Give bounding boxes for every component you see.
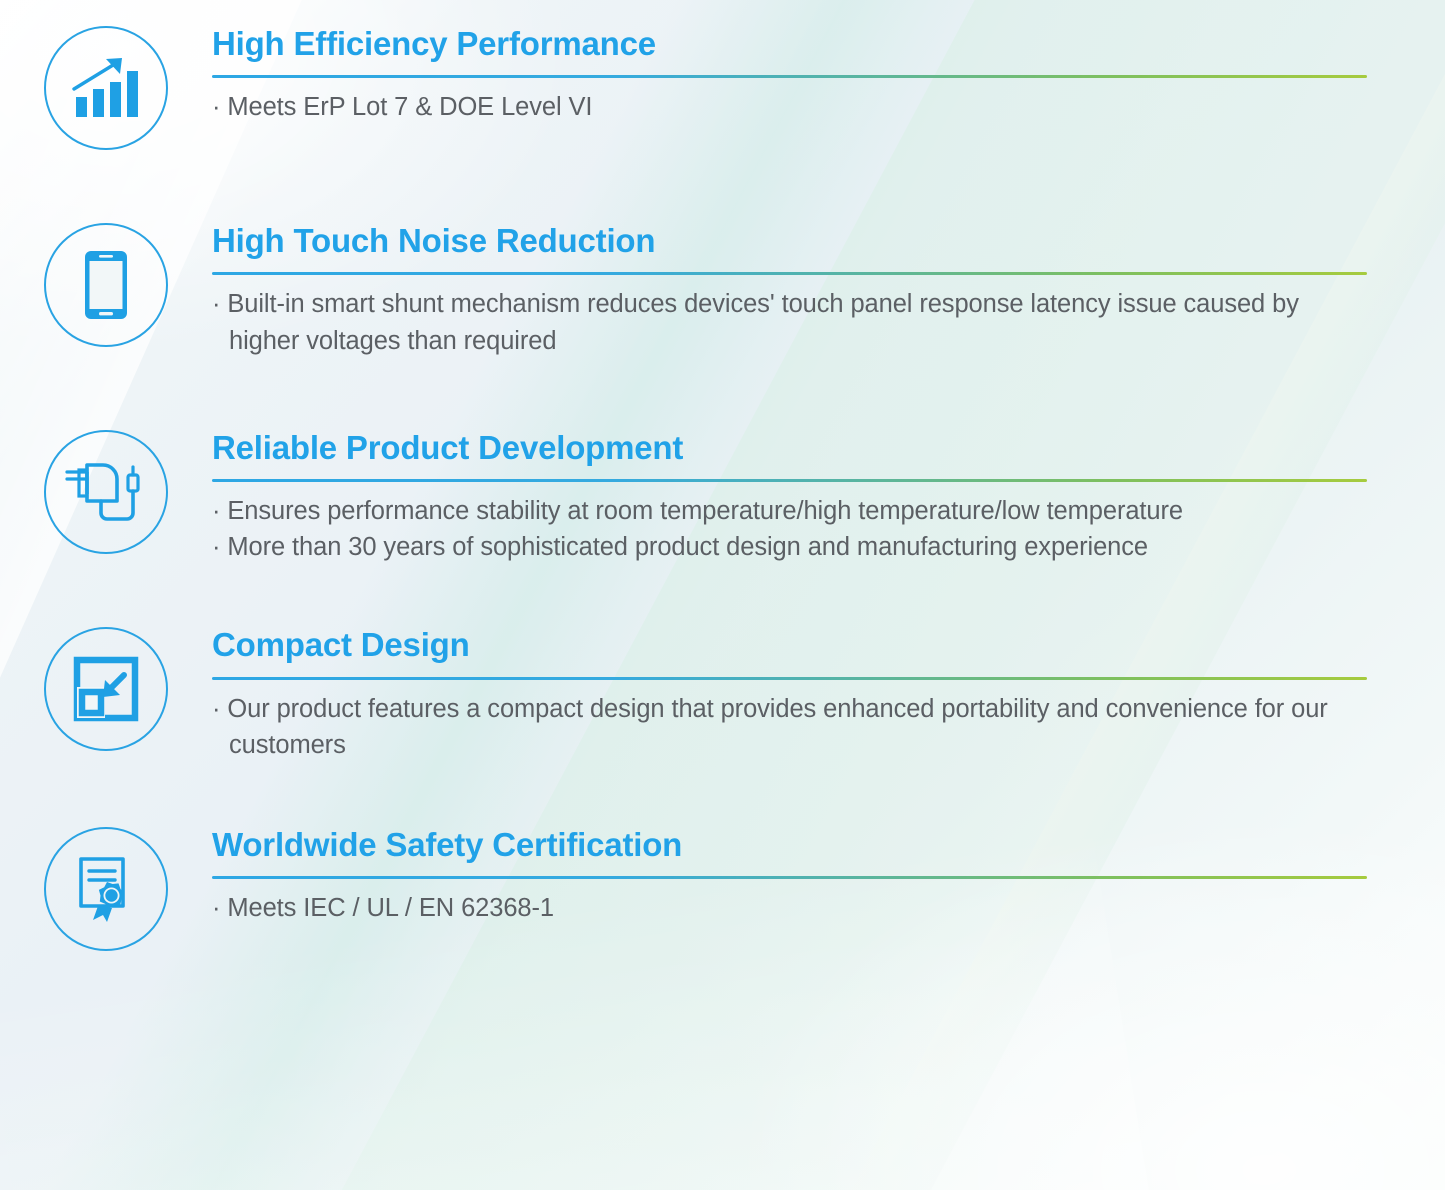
feature-bullet-line: · Ensures performance stability at room … bbox=[212, 493, 1367, 529]
feature-item-high-touch-noise-reduction: High Touch Noise Reduction · Built-in sm… bbox=[0, 223, 1445, 359]
feature-text-block: Compact Design · Our product features a … bbox=[212, 627, 1445, 763]
feature-text-block: Worldwide Safety Certification · Meets I… bbox=[212, 827, 1445, 927]
feature-description: · Meets ErP Lot 7 & DOE Level VI bbox=[212, 89, 1367, 125]
feature-divider-rule bbox=[212, 677, 1367, 680]
feature-description: · Ensures performance stability at room … bbox=[212, 493, 1367, 565]
feature-text-block: Reliable Product Development · Ensures p… bbox=[212, 430, 1445, 566]
feature-divider-rule bbox=[212, 272, 1367, 275]
feature-bullet-line: · Built-in smart shunt mechanism reduces… bbox=[212, 286, 1367, 358]
feature-description: · Built-in smart shunt mechanism reduces… bbox=[212, 286, 1367, 358]
power-adapter-icon bbox=[65, 457, 147, 527]
feature-divider-rule bbox=[212, 876, 1367, 879]
feature-bullet-line: · Meets ErP Lot 7 & DOE Level VI bbox=[212, 89, 1367, 125]
icon-circle bbox=[44, 827, 168, 951]
feature-item-worldwide-safety-certification: Worldwide Safety Certification · Meets I… bbox=[0, 827, 1445, 951]
feature-list: High Efficiency Performance · Meets ErP … bbox=[0, 0, 1445, 951]
smartphone-icon bbox=[83, 249, 129, 321]
feature-divider-rule bbox=[212, 75, 1367, 78]
feature-bullet-line: · Meets IEC / UL / EN 62368-1 bbox=[212, 890, 1367, 926]
feature-title: Worldwide Safety Certification bbox=[212, 827, 1367, 863]
feature-icon-container bbox=[0, 627, 212, 751]
feature-item-high-efficiency-performance: High Efficiency Performance · Meets ErP … bbox=[0, 26, 1445, 150]
bar-chart-growth-icon bbox=[70, 53, 142, 123]
feature-text-block: High Efficiency Performance · Meets ErP … bbox=[212, 26, 1445, 126]
certificate-award-icon bbox=[73, 854, 139, 924]
feature-description: · Our product features a compact design … bbox=[212, 691, 1367, 763]
feature-icon-container bbox=[0, 223, 212, 347]
feature-title: High Touch Noise Reduction bbox=[212, 223, 1367, 259]
feature-bullet-line: · More than 30 years of sophisticated pr… bbox=[212, 529, 1367, 565]
feature-divider-rule bbox=[212, 479, 1367, 482]
feature-title: High Efficiency Performance bbox=[212, 26, 1367, 62]
icon-circle bbox=[44, 26, 168, 150]
feature-title: Compact Design bbox=[212, 627, 1367, 663]
feature-icon-container bbox=[0, 430, 212, 554]
feature-icon-container bbox=[0, 26, 212, 150]
feature-item-reliable-product-development: Reliable Product Development · Ensures p… bbox=[0, 430, 1445, 566]
feature-bullet-line: · Our product features a compact design … bbox=[212, 691, 1367, 763]
feature-title: Reliable Product Development bbox=[212, 430, 1367, 466]
feature-text-block: High Touch Noise Reduction · Built-in sm… bbox=[212, 223, 1445, 359]
icon-circle bbox=[44, 627, 168, 751]
compact-resize-icon bbox=[72, 655, 140, 723]
feature-icon-container bbox=[0, 827, 212, 951]
icon-circle bbox=[44, 223, 168, 347]
icon-circle bbox=[44, 430, 168, 554]
feature-item-compact-design: Compact Design · Our product features a … bbox=[0, 627, 1445, 763]
feature-highlights-page: High Efficiency Performance · Meets ErP … bbox=[0, 0, 1445, 1190]
feature-description: · Meets IEC / UL / EN 62368-1 bbox=[212, 890, 1367, 926]
